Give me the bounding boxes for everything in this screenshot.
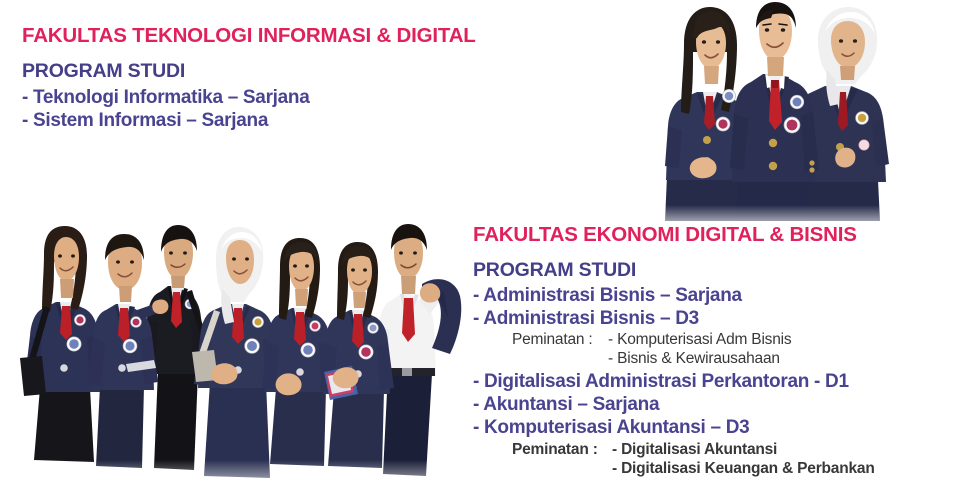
peminatan-item: - Bisnis & Kewirausahaan (608, 350, 780, 369)
peminatan-group-komputerisasi-akuntansi: Peminatan : - Digitalisasi Akuntansi - D… (512, 441, 875, 478)
program-item: - Digitalisasi Administrasi Perkantoran … (473, 370, 875, 393)
faculty-heading-teknologi-informasi-digital: FAKULTAS TEKNOLOGI INFORMASI & DIGITAL (22, 24, 476, 48)
program-studi-label-edb: PROGRAM STUDI (473, 259, 875, 282)
program-item: - Sistem Informasi – Sarjana (22, 109, 476, 132)
peminatan-label-spacer (512, 350, 608, 369)
program-item: - Teknologi Informatika – Sarjana (22, 86, 476, 109)
photo-three-students (655, 0, 966, 221)
program-studi-label-tid: PROGRAM STUDI (22, 60, 476, 83)
peminatan-label: Peminatan : (512, 331, 608, 350)
faculty-block-ekonomi-digital-bisnis: FAKULTAS EKONOMI DIGITAL & BISNIS PROGRA… (473, 223, 875, 478)
peminatan-label: Peminatan : (512, 441, 612, 460)
peminatan-row: - Digitalisasi Keuangan & Perbankan (512, 460, 875, 479)
group-students-illustration (8, 222, 463, 499)
peminatan-group-administrasi-bisnis: Peminatan : - Komputerisasi Adm Bisnis -… (512, 331, 875, 368)
program-list-tid: - Teknologi Informatika – Sarjana - Sist… (22, 86, 476, 132)
three-students-illustration (655, 0, 966, 221)
peminatan-item: - Komputerisasi Adm Bisnis (608, 331, 791, 350)
faculty-heading-ekonomi-digital-bisnis: FAKULTAS EKONOMI DIGITAL & BISNIS (473, 223, 875, 247)
program-list-edb: - Administrasi Bisnis – Sarjana - Admini… (473, 284, 875, 478)
peminatan-label-spacer (512, 460, 612, 479)
program-item: - Administrasi Bisnis – Sarjana (473, 284, 875, 307)
photo-group-students (8, 222, 463, 499)
peminatan-item: - Digitalisasi Akuntansi (612, 441, 777, 460)
peminatan-item: - Digitalisasi Keuangan & Perbankan (612, 460, 875, 479)
program-item: - Akuntansi – Sarjana (473, 393, 875, 416)
peminatan-row: Peminatan : - Komputerisasi Adm Bisnis (512, 331, 875, 350)
banner-root: FAKULTAS TEKNOLOGI INFORMASI & DIGITAL P… (0, 0, 966, 499)
peminatan-row: Peminatan : - Digitalisasi Akuntansi (512, 441, 875, 460)
program-item: - Komputerisasi Akuntansi – D3 (473, 416, 875, 439)
faculty-block-teknologi-informasi-digital: FAKULTAS TEKNOLOGI INFORMASI & DIGITAL P… (22, 24, 476, 132)
peminatan-row: - Bisnis & Kewirausahaan (512, 350, 875, 369)
program-item: - Administrasi Bisnis – D3 (473, 307, 875, 330)
